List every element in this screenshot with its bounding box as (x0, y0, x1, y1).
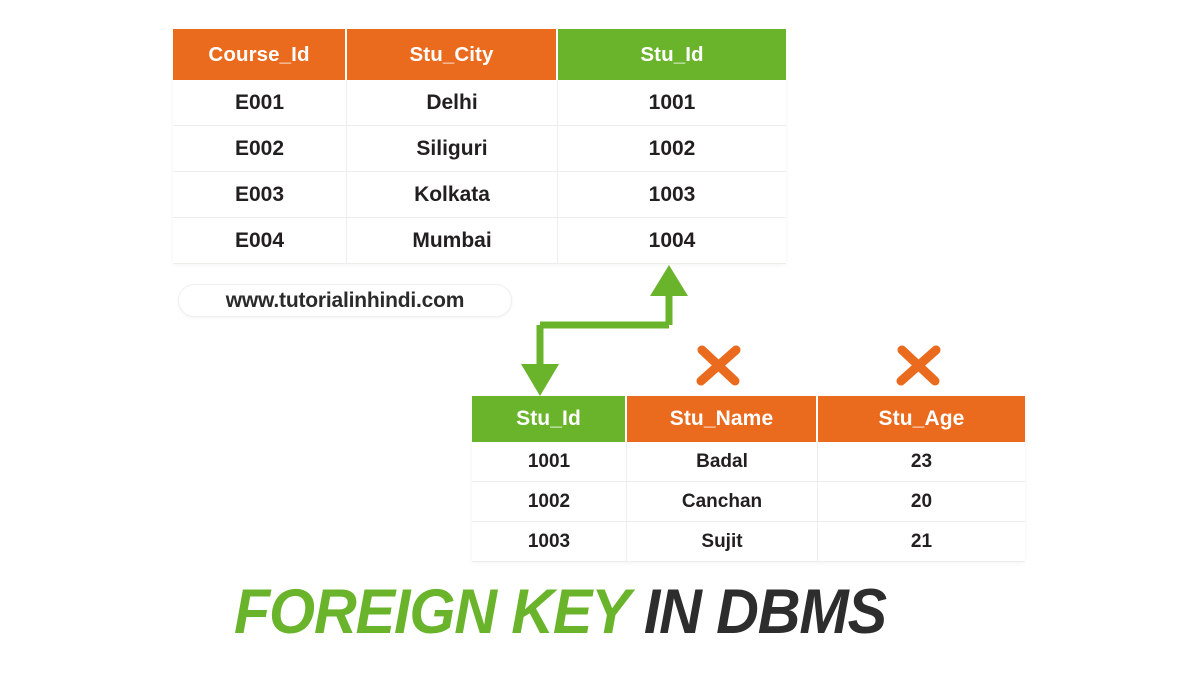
cell-stu-id: 1003 (558, 172, 786, 218)
table-row: E002 Siliguri 1002 (173, 126, 786, 172)
table-row: 1002 Canchan 20 (472, 482, 1025, 522)
arrow-head-up (650, 265, 688, 296)
cell-course-id: E003 (173, 172, 347, 218)
cell-course-id: E004 (173, 218, 347, 264)
cell-stu-city: Kolkata (347, 172, 558, 218)
column-header-stu-id-fk[interactable]: Stu_Id (558, 29, 786, 80)
cell-stu-city: Mumbai (347, 218, 558, 264)
column-header-stu-name[interactable]: Stu_Name (627, 396, 818, 442)
cell-stu-city: Siliguri (347, 126, 558, 172)
table-row: 1001 Badal 23 (472, 442, 1025, 482)
cell-stu-name: Canchan (627, 482, 818, 522)
cell-stu-age: 23 (818, 442, 1025, 482)
column-header-stu-age[interactable]: Stu_Age (818, 396, 1025, 442)
column-header-stu-city[interactable]: Stu_City (347, 29, 558, 80)
cell-stu-name: Badal (627, 442, 818, 482)
website-watermark: www.tutorialinhindi.com (178, 284, 512, 317)
cell-stu-age: 20 (818, 482, 1025, 522)
cell-stu-name: Sujit (627, 522, 818, 562)
cell-stu-id: 1002 (558, 126, 786, 172)
cell-stu-id: 1001 (472, 442, 627, 482)
cell-course-id: E001 (173, 80, 347, 126)
student-table: Stu_Id Stu_Name Stu_Age 1001 Badal 23 10… (472, 396, 1025, 562)
slide-canvas: Course_Id Stu_City Stu_Id E001 Delhi 100… (0, 0, 1200, 675)
cell-stu-id: 1001 (558, 80, 786, 126)
cell-stu-id: 1003 (472, 522, 627, 562)
cell-stu-id: 1004 (558, 218, 786, 264)
table-row: E001 Delhi 1001 (173, 80, 786, 126)
cell-stu-id: 1002 (472, 482, 627, 522)
table-row: E004 Mumbai 1004 (173, 218, 786, 264)
cell-stu-age: 21 (818, 522, 1025, 562)
table-row: 1003 Sujit 21 (472, 522, 1025, 562)
foreign-key-relation-arrow (521, 265, 688, 396)
page-title-rest: IN DBMS (629, 577, 886, 647)
cross-mark-stu-age (901, 350, 936, 381)
page-title: FOREIGN KEY IN DBMS (34, 574, 1087, 650)
course-table: Course_Id Stu_City Stu_Id E001 Delhi 100… (173, 29, 786, 264)
table-row: E003 Kolkata 1003 (173, 172, 786, 218)
arrow-head-down (521, 364, 559, 396)
column-header-course-id[interactable]: Course_Id (173, 29, 347, 80)
cross-mark-stu-name (701, 350, 736, 381)
cell-course-id: E002 (173, 126, 347, 172)
page-title-highlight: FOREIGN KEY (234, 577, 629, 647)
column-header-stu-id-pk[interactable]: Stu_Id (472, 396, 627, 442)
watermark-text: www.tutorialinhindi.com (226, 289, 464, 313)
cell-stu-city: Delhi (347, 80, 558, 126)
table-header-row: Course_Id Stu_City Stu_Id (173, 29, 786, 80)
table-header-row: Stu_Id Stu_Name Stu_Age (472, 396, 1025, 442)
